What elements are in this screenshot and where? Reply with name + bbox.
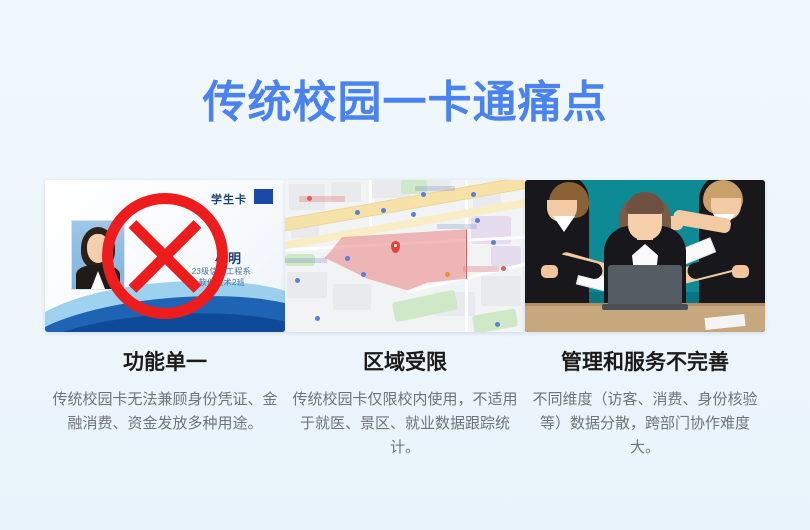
- laptop-screen: [608, 265, 682, 305]
- map-poi-dot: [355, 210, 360, 215]
- card-heading: 功能单一: [123, 350, 207, 376]
- map-poi-dot: [475, 218, 480, 223]
- map-poi-tag: [299, 196, 345, 202]
- school-logo-icon: [254, 189, 273, 204]
- map-poi-dot: [315, 316, 320, 321]
- map-block: [287, 272, 327, 298]
- pain-point-card-management: 管理和服务不完善 不同维度（访客、消费、身份核验等）数据分散，跨部门协作难度大。: [525, 180, 765, 460]
- map-block: [333, 284, 371, 310]
- card-heading: 区域受限: [363, 350, 447, 376]
- map-poi-tag: [437, 224, 477, 229]
- card-body-text: 传统校园卡仅限校内使用，不适用于就医、景区、就业数据跟踪统计。: [289, 388, 521, 460]
- map-poi-tag: [463, 266, 499, 272]
- pain-point-columns: 学生卡 小明 23级信息工程系 软件技术2班: [0, 180, 810, 460]
- card-heading: 管理和服务不完善: [561, 350, 729, 376]
- pain-point-card-coverage: 区域受限 传统校园卡仅限校内使用，不适用于就医、景区、就业数据跟踪统计。: [285, 180, 525, 460]
- map-poi-dot: [361, 272, 366, 277]
- laptop-base: [602, 304, 688, 310]
- map-poi-dot: [295, 278, 300, 283]
- map-green-area: [472, 308, 518, 332]
- map-poi-dot: [491, 240, 496, 245]
- prohibition-cross-icon: [102, 193, 228, 319]
- student-id-card-image: 学生卡 小明 23级信息工程系 软件技术2班: [45, 180, 285, 332]
- map-poi-dot: [421, 192, 426, 197]
- map-poi-dot: [411, 212, 416, 217]
- map-poi-dot: [445, 272, 450, 277]
- page-title: 传统校园一卡通痛点: [0, 78, 810, 128]
- map-poi-tag: [415, 186, 455, 191]
- card-body-text: 传统校园卡无法兼顾身份凭证、金融消费、资金发放多种用途。: [49, 388, 281, 436]
- staff-hair-top: [626, 192, 664, 214]
- map-poi-tag: [285, 258, 327, 263]
- map-green-area: [392, 290, 459, 323]
- pain-point-card-functionality: 学生卡 小明 23级信息工程系 软件技术2班: [45, 180, 285, 460]
- staff-hand-right: [732, 265, 749, 278]
- map-purple-area: [491, 246, 521, 266]
- map-poi-dot: [307, 196, 312, 201]
- card-body-text: 不同维度（访客、消费、身份核验等）数据分散，跨部门协作难度大。: [529, 388, 761, 460]
- staff-hand-left: [541, 265, 558, 278]
- overwhelmed-staff-illustration: [525, 180, 765, 332]
- campus-map-image: [285, 180, 525, 332]
- office-illustration-graphic: [525, 180, 765, 332]
- map-poi-dot: [495, 322, 500, 327]
- map-poi-dot: [381, 208, 386, 213]
- map-poi-dot: [345, 256, 350, 261]
- map-poi-dot: [471, 192, 476, 197]
- map-graphic: [285, 180, 525, 332]
- map-block: [481, 276, 521, 306]
- slide-root: 传统校园一卡通痛点 学生卡 小明 23级信: [0, 0, 810, 530]
- map-poi-dot: [501, 266, 506, 271]
